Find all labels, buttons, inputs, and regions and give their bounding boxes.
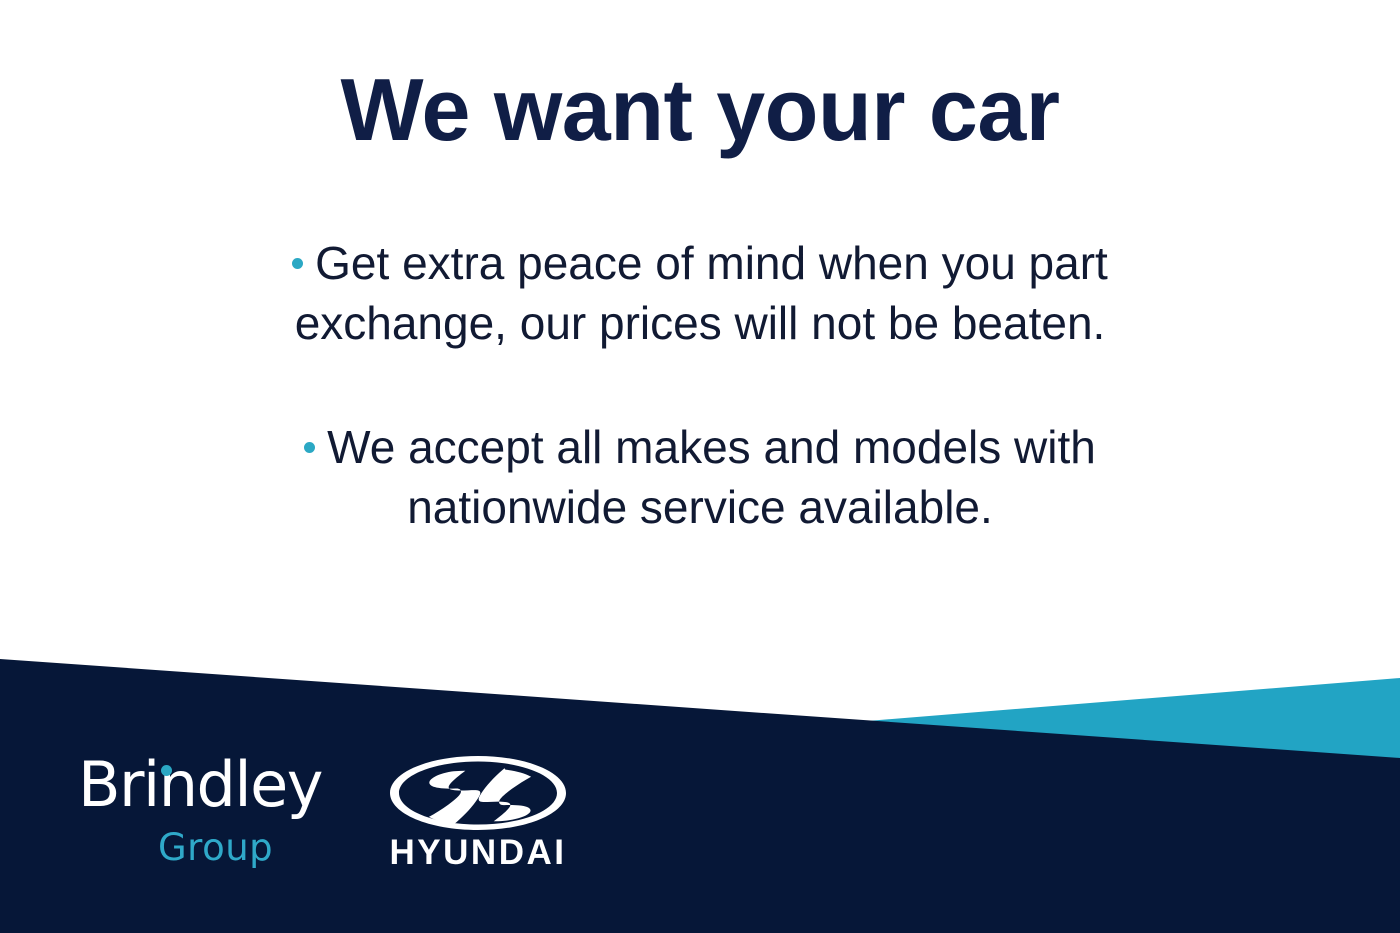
bullet-item-2-line-1: We accept all makes and models with: [327, 421, 1096, 473]
hyundai-wordmark: HYUNDAI: [368, 834, 588, 872]
brindley-wordmark: Brindley: [78, 752, 322, 818]
page-title: We want your car: [0, 64, 1400, 156]
bullet-item-2: We accept all makes and models with nati…: [180, 417, 1220, 537]
brindley-sub-wordmark: Group: [158, 828, 273, 868]
bullet-item-1: Get extra peace of mind when you part ex…: [180, 233, 1220, 353]
hyundai-logo: HYUNDAI: [368, 754, 588, 880]
bullet-item-1-line-2: exchange, our prices will not be beaten.: [295, 297, 1106, 349]
bullet-dot-icon: [292, 258, 303, 269]
logo-row: Brindley Group HYUNDAI: [78, 752, 598, 882]
bullet-dot-icon: [304, 442, 315, 453]
poster-canvas: We want your car Get extra peace of mind…: [0, 0, 1400, 933]
bullet-item-2-line-2: nationwide service available.: [407, 481, 993, 533]
bullet-item-1-line-1: Get extra peace of mind when you part: [315, 237, 1108, 289]
brindley-group-logo: Brindley Group: [78, 752, 346, 880]
banner-teal-wedge: [855, 678, 1400, 762]
brindley-i-dot-icon: [161, 765, 172, 776]
hyundai-h-ellipse-icon: [388, 754, 568, 832]
